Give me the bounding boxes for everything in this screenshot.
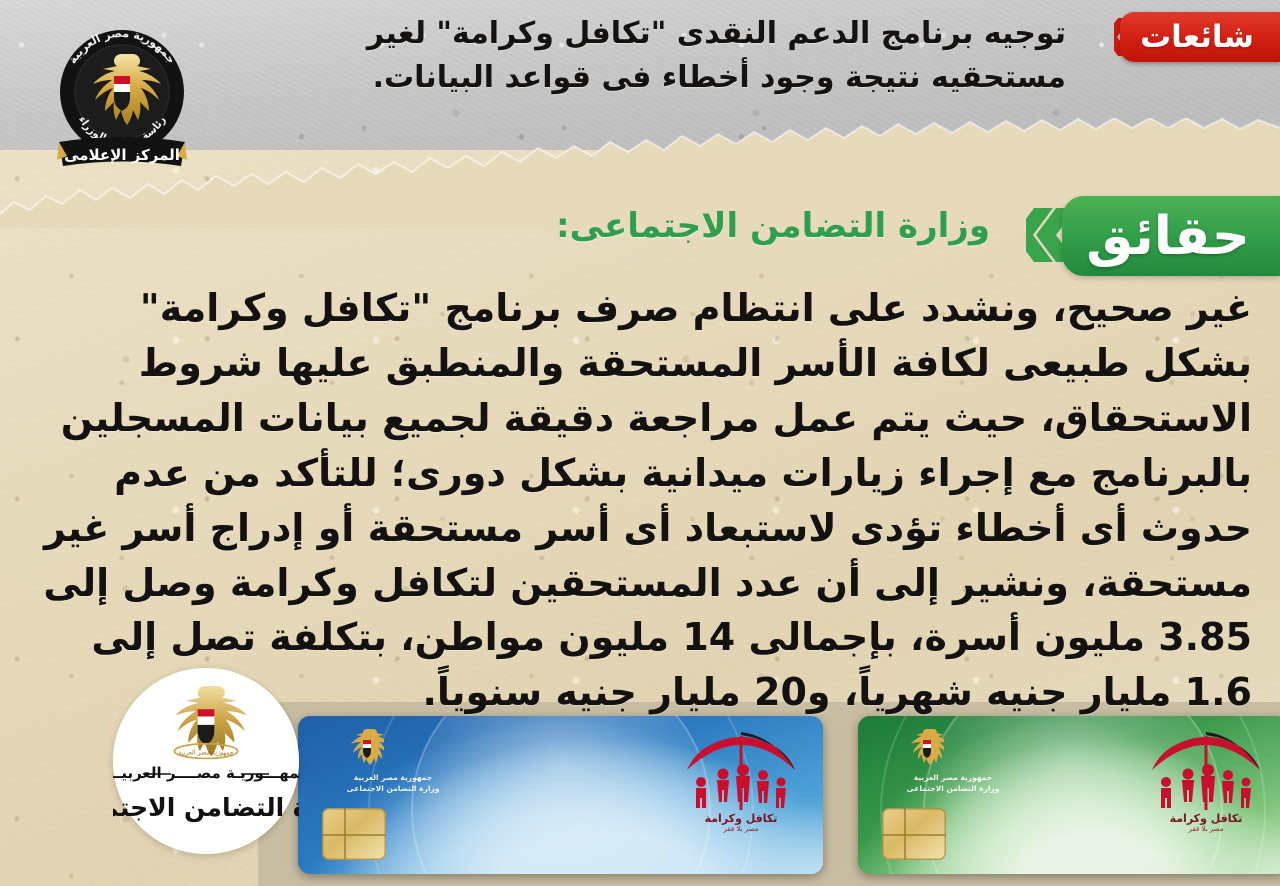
card-state-text: جمهورية مصر العربيةوزارة التضامن الاجتما…	[328, 772, 458, 795]
takaful-card-green: جمهورية مصر العربيةوزارة التضامن الاجتما…	[858, 716, 1280, 874]
card-emv-chip	[882, 808, 946, 860]
card-eagle-icon	[910, 726, 944, 772]
facts-source-label: وزارة التضامن الاجتماعى:	[556, 206, 990, 247]
takaful-karama-logo-icon: تكافل وكرامة مصر بلا فقر	[1146, 730, 1266, 834]
card-emv-chip	[322, 808, 386, 860]
svg-text:مصر بلا فقر: مصر بلا فقر	[722, 825, 758, 833]
ministry-logo-line1: جمهـــوريـة مصــــر العربيــة	[113, 764, 299, 782]
takaful-card-blue: جمهورية مصر العربيةوزارة التضامن الاجتما…	[298, 716, 823, 874]
svg-text:المركز الإعلامى: المركز الإعلامى	[64, 146, 180, 164]
takaful-karama-logo-icon: تكافل وكرامة مصر بلا فقر	[681, 730, 801, 834]
svg-text:تكافل وكرامة: تكافل وكرامة	[1170, 812, 1243, 825]
card-state-text: جمهورية مصر العربيةوزارة التضامن الاجتما…	[888, 772, 1018, 795]
facts-body-text: غير صحيح، ونشدد على انتظام صرف برنامج "ت…	[28, 281, 1252, 720]
card-eagle-icon	[350, 726, 384, 772]
svg-text:مصر بلا فقر: مصر بلا فقر	[1187, 825, 1223, 833]
rumor-badge-label: شائعات	[1140, 22, 1254, 53]
ministry-of-social-solidarity-logo: جمهورية مصر العربية جمهـــوريـة مصــــر …	[113, 668, 299, 854]
svg-text:تكافل وكرامة: تكافل وكرامة	[705, 812, 778, 825]
infographic-poster: جمهورية مصر العربية رئاسة مجلس الوزراء ا…	[0, 0, 1280, 886]
takaful-cards-photo: جمهورية مصر العربيةوزارة التضامن الاجتما…	[258, 702, 1280, 886]
svg-text:جمهورية مصر العربية: جمهورية مصر العربية	[178, 749, 233, 756]
rumor-headline: توجيه برنامج الدعم النقدى "تكافل وكرامة"…	[226, 12, 1066, 101]
facts-badge-label: حقائق	[1086, 210, 1250, 263]
card-globe-graphic	[411, 716, 711, 874]
rumor-badge: شائعات	[1120, 12, 1280, 62]
ministry-logo-line2: وزارة التضامن الاجتماعي	[113, 793, 299, 823]
cabinet-media-center-logo: جمهورية مصر العربية رئاسة مجلس الوزراء ا…	[47, 14, 197, 174]
facts-badge: حقائق	[1062, 196, 1280, 276]
